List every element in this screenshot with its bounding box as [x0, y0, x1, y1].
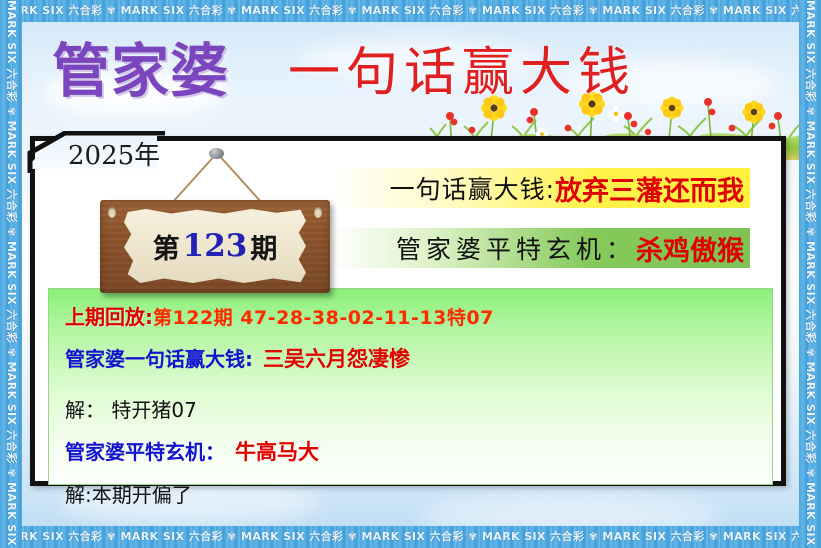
poster-canvas: 管家婆 一句话赢大钱 [0, 0, 821, 548]
border-bottom: MARK SIX 六合彩 ✾ MARK SIX 六合彩 ✾ MARK SIX 六… [0, 526, 821, 548]
banner-secondary-value: 杀鸡傲猴 [636, 229, 744, 268]
banner-secondary-label: 管家婆平特玄机： [396, 230, 636, 266]
row-mystery-result: 管家婆平特玄机： 牛高马大 [65, 436, 772, 466]
slogan-result-label: 管家婆一句话赢大钱: [65, 343, 253, 372]
mystery-result-value: 牛高马大 [235, 436, 319, 466]
board-hole-right [314, 207, 322, 218]
page-title-slogan: 一句话赢大钱 [288, 30, 636, 105]
board-hole-left [108, 207, 116, 218]
hanging-issue-sign: 第 123 期 [92, 148, 342, 293]
row-previous-draw: 上期回放: 第122期 47-28-38-02-11-13特07 [65, 301, 772, 330]
banner-tip-secondary: 管家婆平特玄机： 杀鸡傲猴 [330, 228, 750, 268]
slogan-result-value: 三吴六月怨凄惨 [263, 343, 410, 373]
results-info-box: 上期回放: 第122期 47-28-38-02-11-13特07 管家婆一句话赢… [48, 288, 773, 485]
issue-number: 123 [180, 228, 251, 264]
border-left: MARK SIX 六合彩 ✾ MARK SIX 六合彩 ✾ MARK SIX 六… [0, 0, 22, 548]
mystery-result-label: 管家婆平特玄机： [65, 436, 225, 465]
page-title-brand: 管家婆 [52, 24, 229, 108]
border-right-text: MARK SIX 六合彩 ✾ MARK SIX 六合彩 ✾ MARK SIX 六… [799, 0, 821, 548]
paper-label: 第 123 期 [124, 209, 306, 283]
nail-icon [209, 148, 224, 159]
banner-primary-value: 放弃三藩还而我 [555, 169, 744, 208]
border-top-text: MARK SIX 六合彩 ✾ MARK SIX 六合彩 ✾ MARK SIX 六… [0, 0, 821, 22]
border-right: MARK SIX 六合彩 ✾ MARK SIX 六合彩 ✾ MARK SIX 六… [799, 0, 821, 548]
row-explanation-two: 解:本期开偏了 [65, 479, 772, 508]
banner-primary-label: 一句话赢大钱: [390, 170, 555, 206]
wooden-board: 第 123 期 [100, 200, 330, 293]
row-slogan-result: 管家婆一句话赢大钱: 三吴六月怨凄惨 [65, 343, 772, 373]
border-top: MARK SIX 六合彩 ✾ MARK SIX 六合彩 ✾ MARK SIX 六… [0, 0, 821, 22]
border-left-text: MARK SIX 六合彩 ✾ MARK SIX 六合彩 ✾ MARK SIX 六… [0, 0, 22, 548]
row-explanation-one: 解： 特开猪07 [65, 394, 772, 423]
border-bottom-text: MARK SIX 六合彩 ✾ MARK SIX 六合彩 ✾ MARK SIX 六… [0, 526, 821, 548]
issue-prefix: 第 [153, 227, 180, 266]
previous-draw-label: 上期回放: [65, 301, 153, 330]
banner-tip-primary: 一句话赢大钱: 放弃三藩还而我 [330, 168, 750, 208]
issue-suffix: 期 [250, 227, 277, 266]
previous-draw-numbers: 第122期 47-28-38-02-11-13特07 [153, 303, 494, 330]
explanation-two-text: 解:本期开偏了 [65, 479, 192, 508]
explanation-one-text: 解： 特开猪07 [65, 394, 197, 423]
